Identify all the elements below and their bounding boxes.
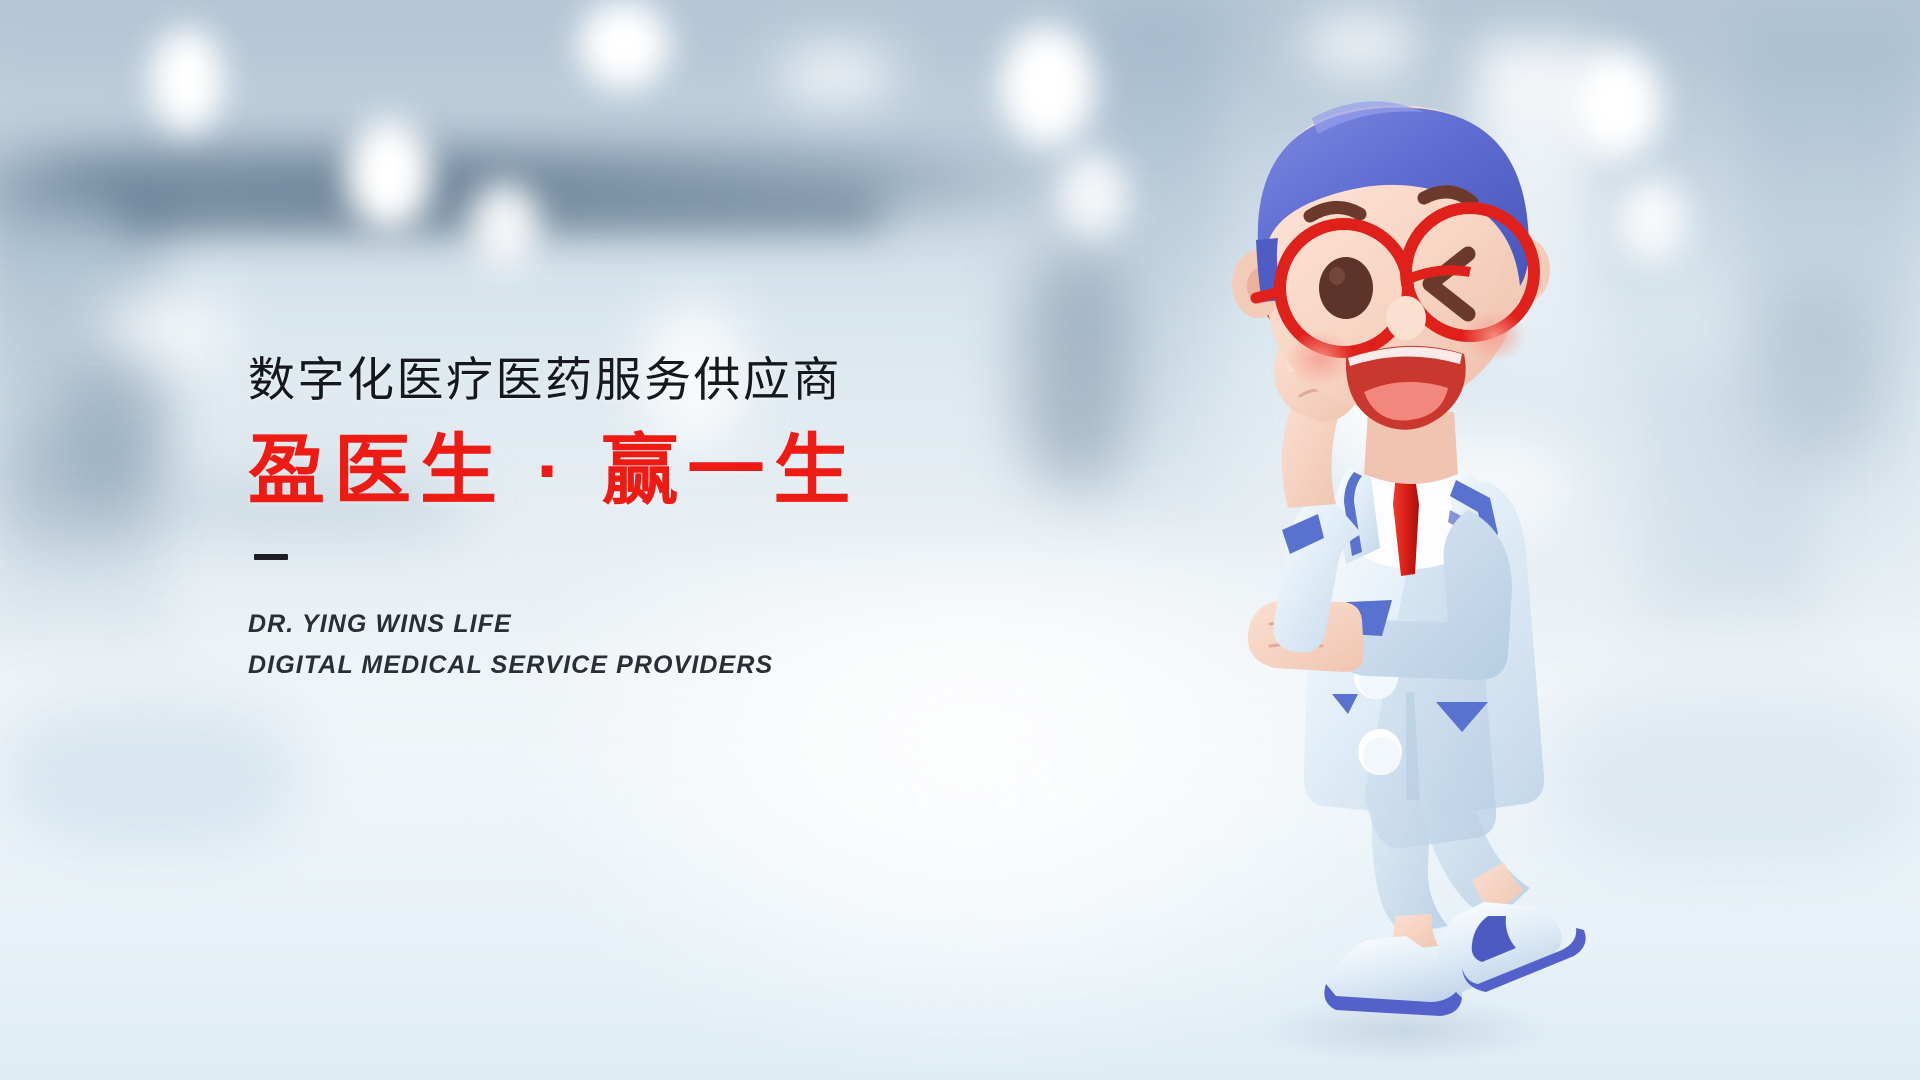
- hero-headline: 盈医生 · 赢一生: [248, 429, 1008, 514]
- mascot-eye-open: [1319, 257, 1373, 319]
- mascot-eye-open-highlight: [1329, 267, 1345, 285]
- hero-divider: [254, 554, 288, 560]
- background-floor-reflection: [0, 700, 300, 850]
- background-figure-silhouette: [0, 420, 150, 550]
- mascot-glasses-temple-left: [1256, 292, 1280, 298]
- ceiling-light: [1058, 152, 1128, 244]
- background-figure-silhouette: [1020, 248, 1130, 488]
- doctor-mascot-illustration: [1200, 40, 1660, 1070]
- hero-subtitle-line-1: DR. YING WINS LIFE: [248, 604, 1008, 645]
- ceiling-light: [1000, 26, 1094, 146]
- mascot-cheek-right: [1462, 310, 1526, 362]
- hero-tagline: 数字化医疗医药服务供应商: [248, 352, 1008, 407]
- ceiling-light: [578, 0, 670, 90]
- mascot-coat-button-lower-shade: [1363, 737, 1401, 775]
- hero-copy: 数字化医疗医药服务供应商 盈医生 · 赢一生 DR. YING WINS LIF…: [248, 352, 1008, 685]
- hero-subtitle-line-2: DIGITAL MEDICAL SERVICE PROVIDERS: [248, 645, 1008, 686]
- ceiling-light: [150, 28, 224, 132]
- ceiling-light: [776, 46, 896, 102]
- ceiling-light: [346, 118, 432, 230]
- hero-banner: 数字化医疗医药服务供应商 盈医生 · 赢一生 DR. YING WINS LIF…: [0, 0, 1920, 1080]
- mascot-cheek-left: [1286, 330, 1354, 386]
- ceiling-light: [470, 182, 540, 268]
- mascot-shoe-front: [1437, 902, 1585, 992]
- mascot-nose: [1386, 296, 1426, 340]
- background-glass-partition: [1640, 360, 1820, 620]
